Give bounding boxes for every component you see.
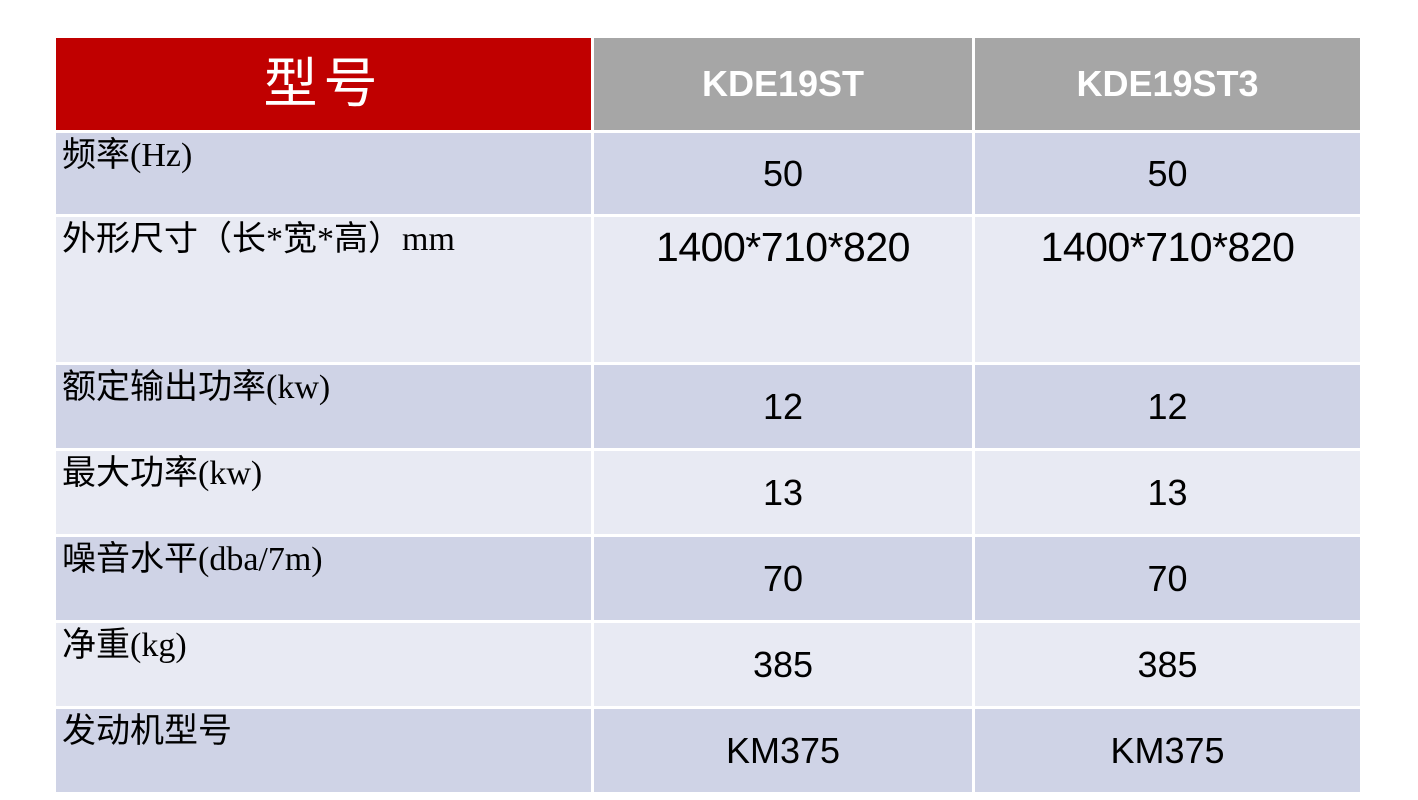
specification-table: 型号 KDE19ST KDE19ST3 频率(Hz) 50 50 外形尺寸（长*…: [56, 38, 1360, 792]
row-label-max-power: 最大功率(kw): [56, 451, 594, 537]
table-row: 净重(kg) 385 385: [56, 623, 1360, 709]
row-value-noise-level-kde19st: 70: [594, 537, 975, 623]
row-value-frequency-kde19st3: 50: [975, 133, 1360, 217]
header-row: 型号 KDE19ST KDE19ST3: [56, 38, 1360, 133]
row-label-net-weight: 净重(kg): [56, 623, 594, 709]
row-label-engine-model: 发动机型号: [56, 709, 594, 792]
row-value-net-weight-kde19st3: 385: [975, 623, 1360, 709]
row-value-dimensions-kde19st3: 1400*710*820: [975, 217, 1360, 365]
row-value-max-power-kde19st3: 13: [975, 451, 1360, 537]
row-value-engine-model-kde19st3: KM375: [975, 709, 1360, 792]
table-row: 额定输出功率(kw) 12 12: [56, 365, 1360, 451]
row-label-rated-output-power: 额定输出功率(kw): [56, 365, 594, 451]
row-value-dimensions-kde19st: 1400*710*820: [594, 217, 975, 365]
table-row: 频率(Hz) 50 50: [56, 133, 1360, 217]
table-row: 最大功率(kw) 13 13: [56, 451, 1360, 537]
row-value-noise-level-kde19st3: 70: [975, 537, 1360, 623]
row-label-frequency: 频率(Hz): [56, 133, 594, 217]
row-value-frequency-kde19st: 50: [594, 133, 975, 217]
specification-sheet: 型号 KDE19ST KDE19ST3 频率(Hz) 50 50 外形尺寸（长*…: [0, 0, 1418, 800]
table-header: 型号 KDE19ST KDE19ST3: [56, 38, 1360, 133]
row-label-noise-level: 噪音水平(dba/7m): [56, 537, 594, 623]
table-row: 发动机型号 KM375 KM375: [56, 709, 1360, 792]
row-value-engine-model-kde19st: KM375: [594, 709, 975, 792]
table-row: 外形尺寸（长*宽*高）mm 1400*710*820 1400*710*820: [56, 217, 1360, 365]
header-cell-kde19st3: KDE19ST3: [975, 38, 1360, 133]
header-cell-kde19st: KDE19ST: [594, 38, 975, 133]
row-value-rated-output-power-kde19st: 12: [594, 365, 975, 451]
row-value-net-weight-kde19st: 385: [594, 623, 975, 709]
row-value-rated-output-power-kde19st3: 12: [975, 365, 1360, 451]
row-value-max-power-kde19st: 13: [594, 451, 975, 537]
table-row: 噪音水平(dba/7m) 70 70: [56, 537, 1360, 623]
table-body: 频率(Hz) 50 50 外形尺寸（长*宽*高）mm 1400*710*820 …: [56, 133, 1360, 792]
row-label-dimensions: 外形尺寸（长*宽*高）mm: [56, 217, 594, 365]
header-cell-model-label: 型号: [56, 38, 594, 133]
